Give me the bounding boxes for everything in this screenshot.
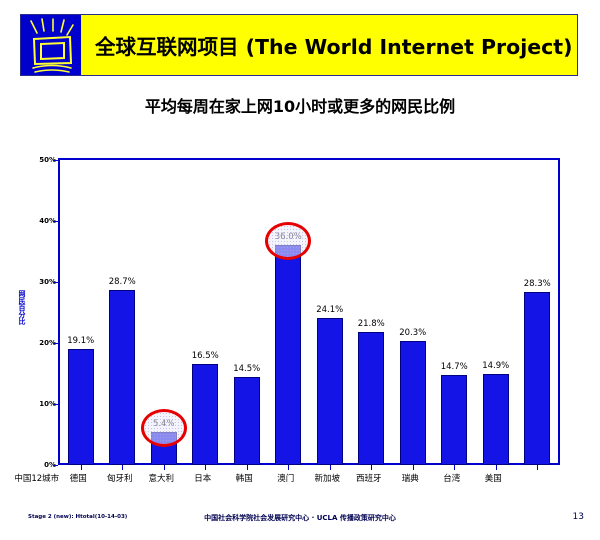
bar-group[interactable]: 14.9% (483, 160, 509, 465)
x-axis-tick-mark (247, 465, 248, 470)
bar-chart: 网民百分比 0%10%20%30%40%50% 19.1%28.7%5.4%16… (16, 150, 564, 495)
x-axis-tick-mark (537, 465, 538, 470)
bar-group[interactable]: 5.4% (151, 160, 177, 465)
y-axis-tick-mark (53, 160, 58, 161)
bar[interactable] (317, 318, 343, 465)
bar[interactable] (524, 292, 550, 465)
bar-value-label: 5.4% (137, 419, 191, 429)
bar-value-label: 28.3% (510, 279, 564, 289)
bar-value-label: 19.1% (54, 336, 108, 346)
bar-group[interactable]: 28.3% (524, 160, 550, 465)
x-axis-tick-mark (413, 465, 414, 470)
crt-monitor-rays-icon (21, 15, 81, 75)
x-axis-tick-mark (330, 465, 331, 470)
bar[interactable] (109, 290, 135, 465)
y-axis-tick-label: 30% (16, 278, 56, 286)
bar[interactable] (358, 332, 384, 465)
y-axis-tick-mark (53, 465, 58, 466)
footer-page-number: 13 (573, 512, 584, 522)
bar-group[interactable]: 19.1% (68, 160, 94, 465)
bar[interactable] (234, 377, 260, 465)
slide-title-bar: 全球互联网项目 (The World Internet Project) (20, 14, 578, 76)
bar-group[interactable]: 21.8% (358, 160, 384, 465)
x-axis-tick-mark (371, 465, 372, 470)
bar-value-label: 36.0% (261, 232, 315, 242)
bar-value-label: 24.1% (303, 305, 357, 315)
bar-group[interactable]: 16.5% (192, 160, 218, 465)
y-axis-tick-label: 10% (16, 400, 56, 408)
x-axis-tick-mark (164, 465, 165, 470)
x-axis-tick-mark (288, 465, 289, 470)
y-axis-tick-label: 0% (16, 461, 56, 469)
bar-value-label: 28.7% (95, 277, 149, 287)
bar[interactable] (441, 375, 467, 465)
y-axis-tick-mark (53, 282, 58, 283)
x-axis-tick-mark (496, 465, 497, 470)
bar-group[interactable]: 14.7% (441, 160, 467, 465)
x-axis-tick-label: 美国 (465, 472, 523, 484)
bar-series: 19.1%28.7%5.4%16.5%14.5%36.0%24.1%21.8%2… (60, 160, 558, 465)
bar-group[interactable]: 28.7% (109, 160, 135, 465)
bar-group[interactable]: 14.5% (234, 160, 260, 465)
chart-subtitle: 平均每周在家上网10小时或更多的网民比例 (0, 93, 600, 117)
bar[interactable] (151, 432, 177, 465)
bar-group[interactable]: 36.0% (275, 160, 301, 465)
slide-footer: Stage 2 (new): Htotal(10-14-03) 中国社会科学院社… (0, 505, 600, 540)
y-axis-tick-mark (53, 404, 58, 405)
bar[interactable] (68, 349, 94, 466)
y-axis-tick-label: 50% (16, 156, 56, 164)
x-axis-tick-mark (81, 465, 82, 470)
bar[interactable] (192, 364, 218, 465)
bar-value-label: 20.3% (386, 328, 440, 338)
x-axis-tick-mark (205, 465, 206, 470)
footer-institution: 中国社会科学院社会发展研究中心 · UCLA 传播政策研究中心 (0, 513, 600, 523)
bar-value-label: 14.9% (469, 361, 523, 371)
bar-value-label: 14.5% (220, 364, 274, 374)
bar[interactable] (275, 245, 301, 465)
bar-group[interactable]: 20.3% (400, 160, 426, 465)
page-title: 全球互联网项目 (The World Internet Project) (81, 15, 577, 75)
bar-group[interactable]: 24.1% (317, 160, 343, 465)
bar[interactable] (483, 374, 509, 465)
x-axis-tick-mark (122, 465, 123, 470)
y-axis-tick-mark (53, 221, 58, 222)
y-axis-tick-label: 20% (16, 339, 56, 347)
y-axis-tick-label: 40% (16, 217, 56, 225)
bar-value-label: 16.5% (178, 351, 232, 361)
bar[interactable] (400, 341, 426, 465)
x-axis-tick-mark (454, 465, 455, 470)
y-axis-title: 网民百分比 (16, 290, 28, 325)
